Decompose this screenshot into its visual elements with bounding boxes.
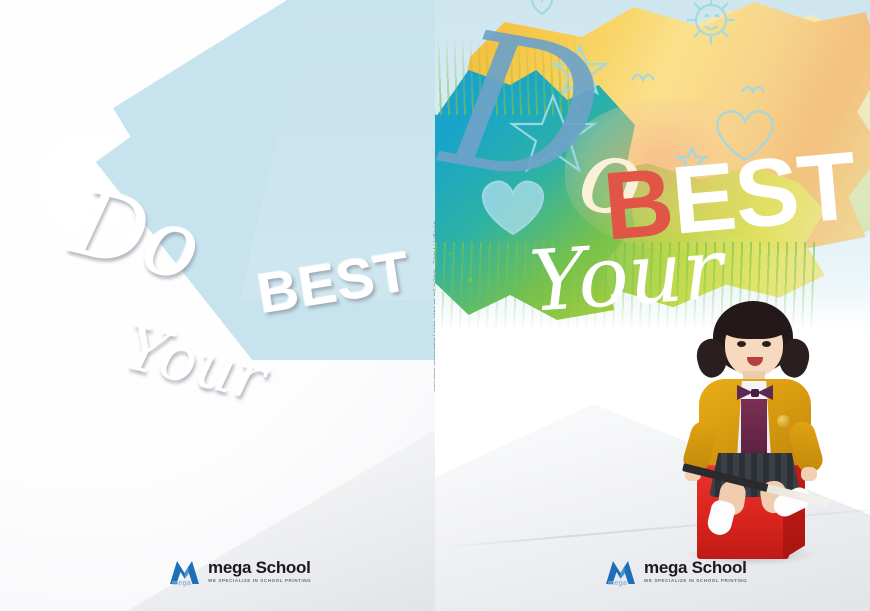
girl-blazer-badge xyxy=(777,415,790,428)
logo-mark-subtext-front: mega xyxy=(608,580,627,587)
logo-back-cover: mega mega School WE SPECIALIZE IN SCHOOL… xyxy=(168,556,311,586)
logo-name-front: mega School xyxy=(644,559,747,576)
schoolgirl-photo xyxy=(679,295,827,525)
logo-text-block-front: mega School WE SPECIALIZE IN SCHOOL PRIN… xyxy=(644,559,747,584)
girl-bangs xyxy=(720,309,788,339)
girl-bow-tie xyxy=(737,385,773,400)
bow-right-wing xyxy=(757,385,773,400)
logo-tagline-front: WE SPECIALIZE IN SCHOOL PRINTING xyxy=(644,579,747,584)
logo-mark-subtext: mega xyxy=(172,580,191,587)
front-cover-panel: D o BEST Your xyxy=(435,0,870,611)
girl-eye-right xyxy=(762,341,771,347)
mega-school-logo-icon-front: mega xyxy=(604,556,637,586)
girl-hand-right xyxy=(801,467,817,481)
bird-doodle-secondary-icon xyxy=(740,78,766,100)
bow-knot xyxy=(751,389,759,397)
bird-doodle-icon xyxy=(630,66,656,88)
mega-school-logo-icon: mega xyxy=(168,556,201,586)
sun-doodle-icon xyxy=(675,0,755,60)
book-cover-spread: Do BEST Your mega mega School WE SPECIAL… xyxy=(0,0,870,611)
girl-vest xyxy=(741,399,767,453)
girl-eye-left xyxy=(737,341,746,347)
logo-front-cover: mega mega School WE SPECIALIZE IN SCHOOL… xyxy=(604,556,747,586)
logo-tagline: WE SPECIALIZE IN SCHOOL PRINTING xyxy=(208,579,311,584)
back-cover-panel: Do BEST Your mega mega School WE SPECIAL… xyxy=(0,0,435,611)
logo-name: mega School xyxy=(208,559,311,576)
logo-text-block: mega School WE SPECIALIZE IN SCHOOL PRIN… xyxy=(208,559,311,584)
